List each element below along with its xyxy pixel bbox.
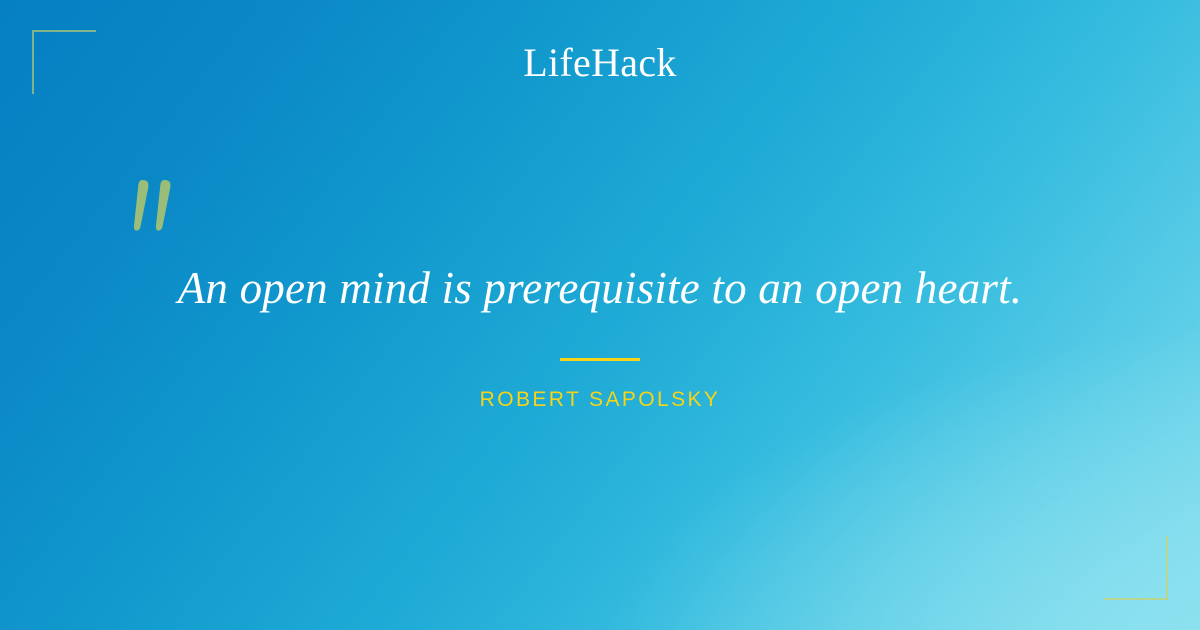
quote-author: ROBERT SAPOLSKY bbox=[0, 387, 1200, 413]
corner-bracket-bottom-right-icon bbox=[1104, 536, 1168, 600]
lifehack-logo: LifeHack bbox=[0, 40, 1200, 86]
quote-block: An open mind is prerequisite to an open … bbox=[0, 258, 1200, 413]
quote-divider bbox=[560, 358, 640, 361]
quote-card: LifeHack An open mind is prerequisite to… bbox=[0, 0, 1200, 630]
quotation-mark-icon bbox=[126, 178, 190, 250]
quote-text: An open mind is prerequisite to an open … bbox=[95, 258, 1105, 318]
